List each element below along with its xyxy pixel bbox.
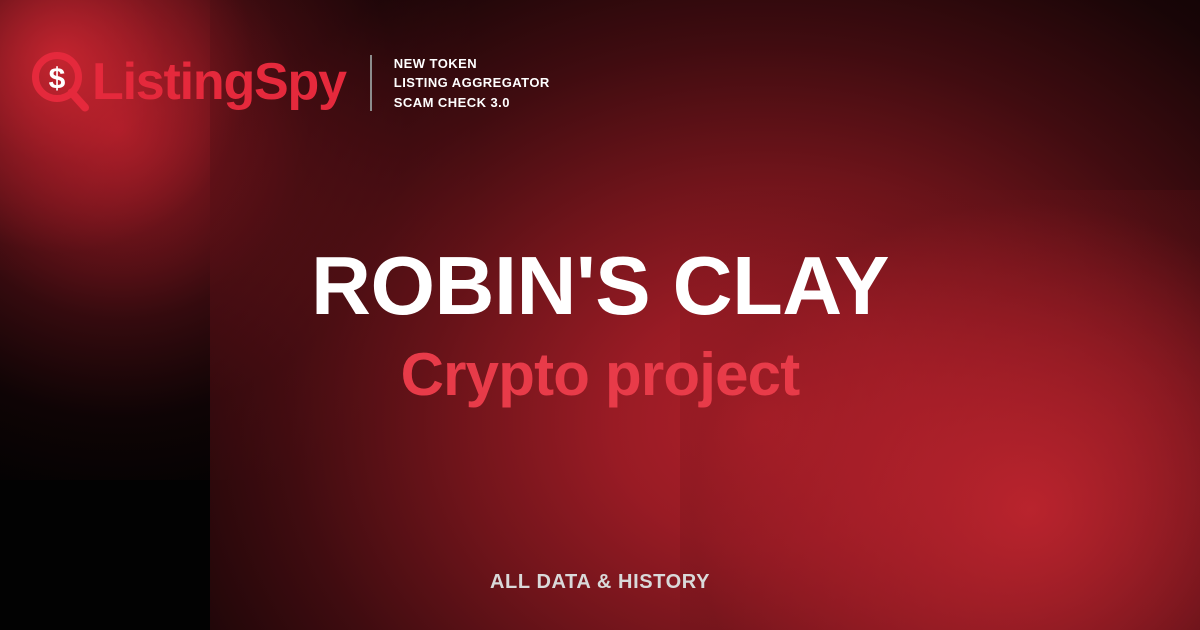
hero-section: ROBIN'S CLAY Crypto project (0, 244, 1200, 405)
brand-header[interactable]: $ ListingSpy NEW TOKEN LISTING AGGREGATO… (32, 52, 550, 114)
header-divider (370, 55, 372, 111)
brand-tagline: NEW TOKEN LISTING AGGREGATOR SCAM CHECK … (394, 55, 550, 111)
footer-section: ALL DATA & HISTORY (0, 571, 1200, 594)
footer-caption: ALL DATA & HISTORY (490, 571, 710, 593)
magnifier-dollar-icon: $ (32, 52, 90, 114)
page-title: ROBIN'S CLAY (0, 244, 1200, 327)
tagline-line-3: SCAM CHECK 3.0 (394, 94, 550, 111)
background-glow-top-left-core (0, 0, 270, 270)
svg-text:$: $ (49, 63, 66, 96)
logo-lockup[interactable]: $ ListingSpy (32, 52, 346, 114)
brand-name: ListingSpy (92, 56, 346, 108)
page-subtitle: Crypto project (0, 345, 1200, 405)
tagline-line-2: LISTING AGGREGATOR (394, 74, 550, 91)
tagline-line-1: NEW TOKEN (394, 55, 550, 72)
promo-banner: $ ListingSpy NEW TOKEN LISTING AGGREGATO… (0, 0, 1200, 630)
